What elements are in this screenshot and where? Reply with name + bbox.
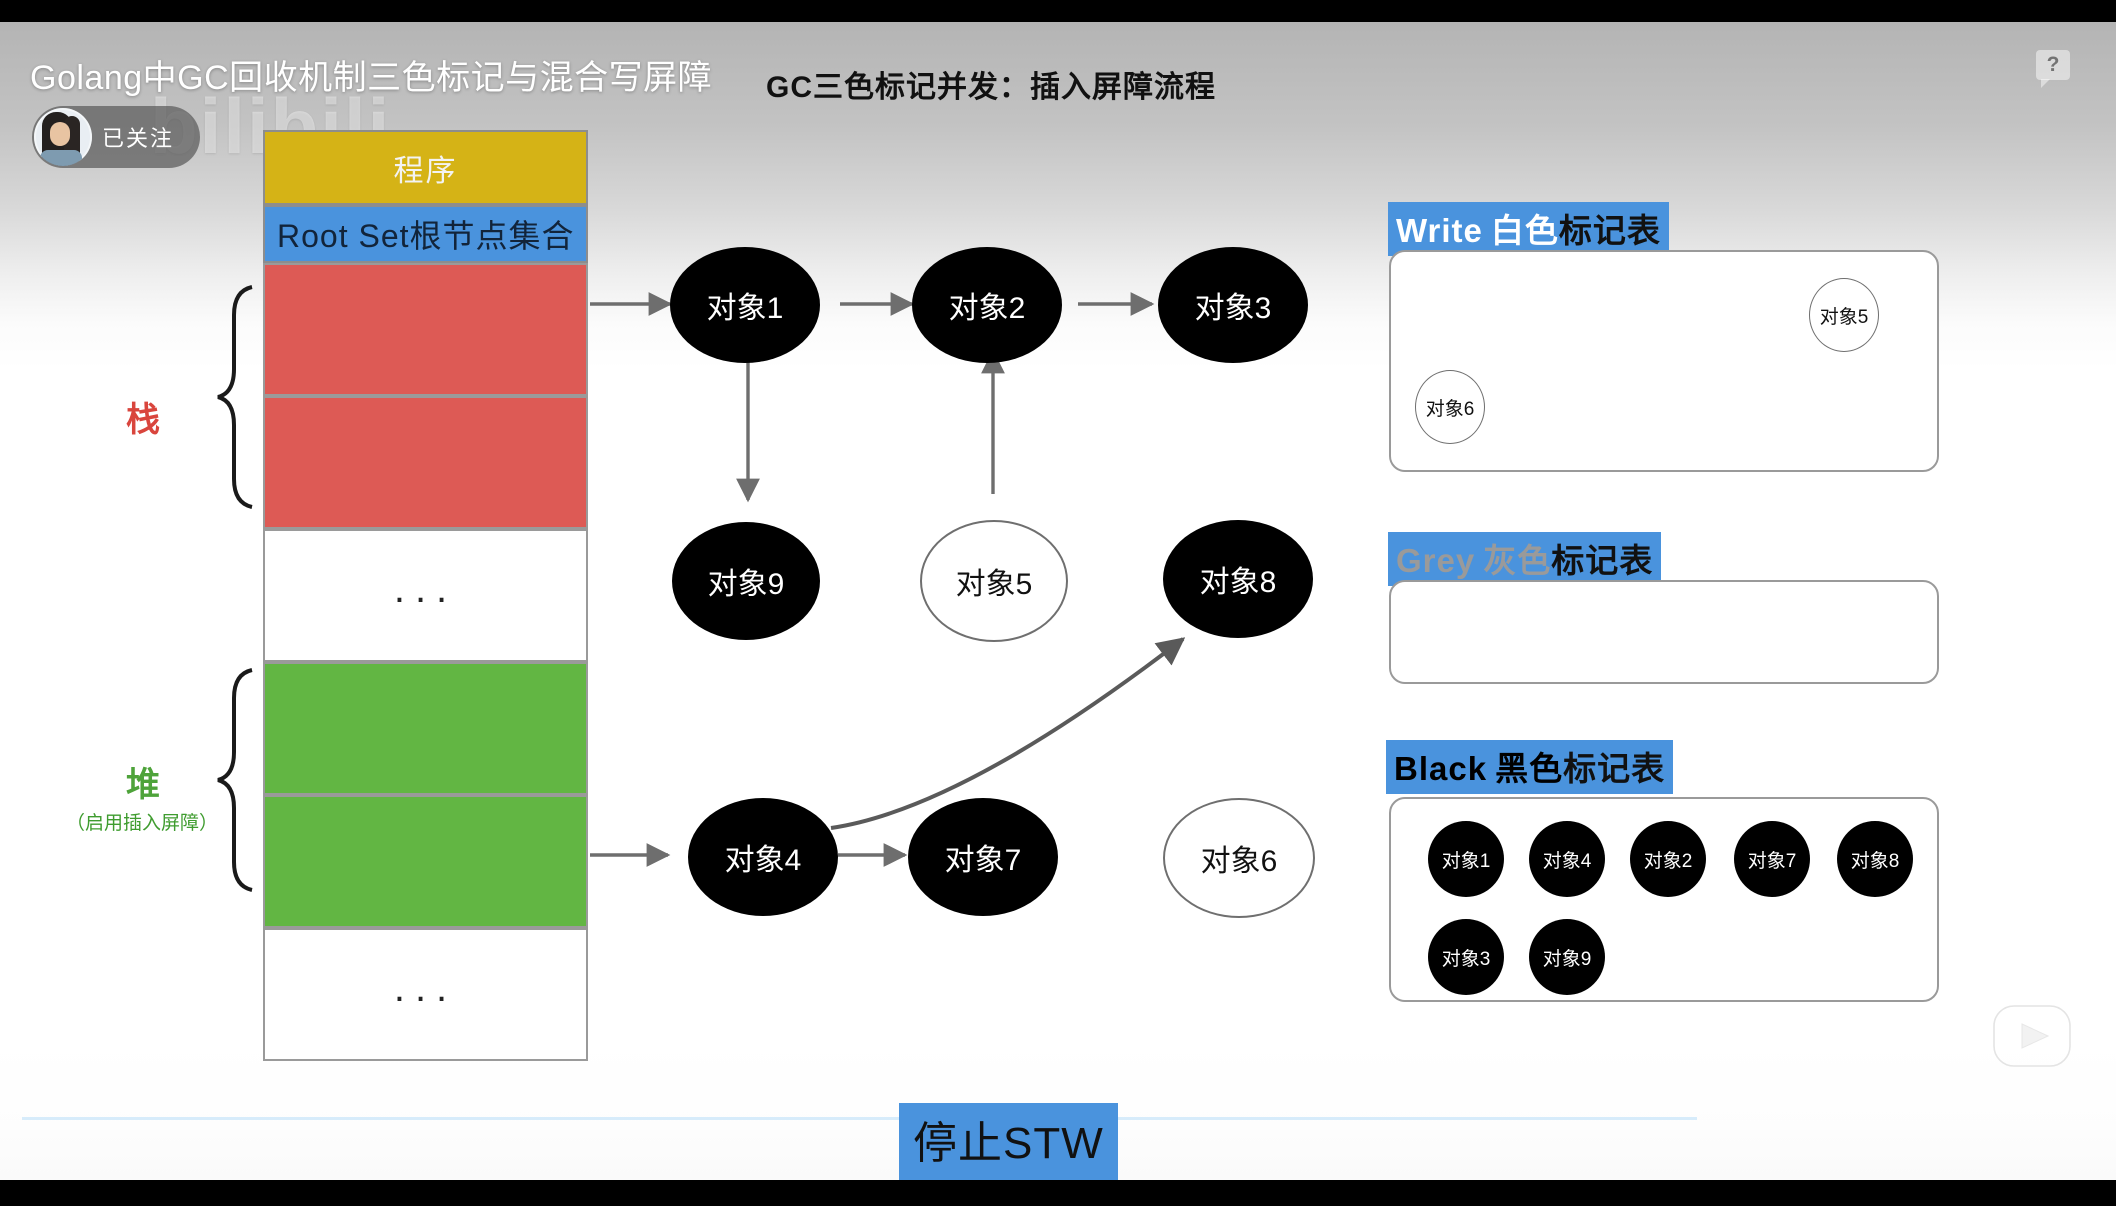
grey-title-cn: 灰色 (1483, 542, 1551, 579)
heap-slot-ellipsis: ... (263, 928, 588, 1061)
root-set-box: Root Set根节点集合 (263, 205, 588, 263)
divider-line (22, 1117, 1697, 1120)
chip-object-7: 对象7 (1734, 821, 1810, 897)
chip-object-3: 对象3 (1428, 919, 1504, 995)
chip-label: 对象8 (1851, 846, 1900, 873)
node-object-1: 对象1 (670, 247, 820, 363)
avatar[interactable] (34, 108, 92, 166)
chip-object-1: 对象1 (1428, 821, 1504, 897)
node-object-5: 对象5 (920, 520, 1068, 642)
node-label: 对象3 (1195, 283, 1272, 327)
stack-slot-2 (263, 396, 588, 529)
node-label: 对象8 (1200, 557, 1277, 601)
node-label: 对象1 (707, 283, 784, 327)
node-object-7: 对象7 (908, 798, 1058, 916)
chip-object-6: 对象6 (1415, 370, 1485, 444)
heap-sublabel: （启用插入屏障） (66, 808, 218, 835)
chip-label: 对象4 (1543, 846, 1592, 873)
heap-slot-1 (263, 662, 588, 795)
chip-label: 对象1 (1442, 846, 1491, 873)
help-icon[interactable]: ? (2036, 50, 2070, 80)
node-object-8: 对象8 (1163, 520, 1313, 638)
bilibili-tv-logo (1982, 988, 2082, 1080)
ellipsis-label-2: ... (394, 968, 457, 1022)
chip-label: 对象2 (1644, 846, 1693, 873)
black-title-rest: 标记表 (1563, 750, 1665, 787)
ellipsis-label: ... (394, 569, 457, 623)
follow-label: 已关注 (102, 121, 174, 153)
chip-object-4: 对象4 (1529, 821, 1605, 897)
white-title-en: Write (1396, 212, 1483, 249)
chip-label: 对象3 (1442, 944, 1491, 971)
memory-column: 程序 Root Set根节点集合 ... ... (263, 130, 588, 1061)
node-label: 对象4 (725, 835, 802, 879)
white-mark-table: 对象5 对象6 (1389, 250, 1939, 472)
white-title-cn: 白色 (1491, 212, 1559, 249)
black-title-cn: 黑色 (1495, 750, 1563, 787)
stack-label: 栈 (126, 392, 160, 441)
black-title-en: Black (1394, 750, 1487, 787)
node-object-4: 对象4 (688, 798, 838, 916)
chip-object-8: 对象8 (1837, 821, 1913, 897)
stw-label: 停止STW (899, 1103, 1118, 1180)
chip-object-5: 对象5 (1809, 278, 1879, 352)
grey-mark-table-title: Grey灰色标记表 (1388, 532, 1661, 586)
chip-label: 对象7 (1748, 846, 1797, 873)
node-object-2: 对象2 (912, 247, 1062, 363)
slide-title: GC三色标记并发：插入屏障流程 (766, 62, 1216, 106)
node-label: 对象6 (1201, 836, 1278, 880)
chip-label: 对象6 (1426, 394, 1475, 421)
node-label: 对象2 (949, 283, 1026, 327)
video-title: Golang中GC回收机制三色标记与混合写屏障 (30, 50, 712, 99)
stack-slot-1 (263, 263, 588, 396)
grey-mark-table (1389, 580, 1939, 684)
node-label: 对象5 (956, 559, 1033, 603)
chip-label: 对象5 (1820, 302, 1869, 329)
black-mark-table-title: Black黑色标记表 (1386, 740, 1673, 794)
video-surface[interactable]: bilibili Golang中GC回收机制三色标记与混合写屏障 已关注 GC三… (0, 22, 2116, 1180)
video-player: bilibili Golang中GC回收机制三色标记与混合写屏障 已关注 GC三… (0, 0, 2116, 1206)
white-mark-table-title: Write白色标记表 (1388, 202, 1669, 256)
follow-button[interactable]: 已关注 (32, 106, 200, 168)
node-label: 对象7 (945, 835, 1022, 879)
heap-label: 堆 (126, 757, 160, 806)
heap-slot-2 (263, 795, 588, 928)
stack-slot-ellipsis: ... (263, 529, 588, 662)
node-object-9: 对象9 (672, 522, 820, 640)
grey-title-rest: 标记表 (1551, 542, 1653, 579)
chip-object-2: 对象2 (1630, 821, 1706, 897)
node-label: 对象9 (708, 559, 785, 603)
node-object-3: 对象3 (1158, 247, 1308, 363)
chip-object-9: 对象9 (1529, 919, 1605, 995)
node-object-6: 对象6 (1163, 798, 1315, 918)
black-mark-table: 对象1 对象4 对象2 对象7 对象8 对象3 对象9 (1389, 797, 1939, 1002)
grey-title-en: Grey (1396, 542, 1475, 579)
program-box: 程序 (263, 130, 588, 205)
white-title-rest: 标记表 (1559, 212, 1661, 249)
chip-label: 对象9 (1543, 944, 1592, 971)
